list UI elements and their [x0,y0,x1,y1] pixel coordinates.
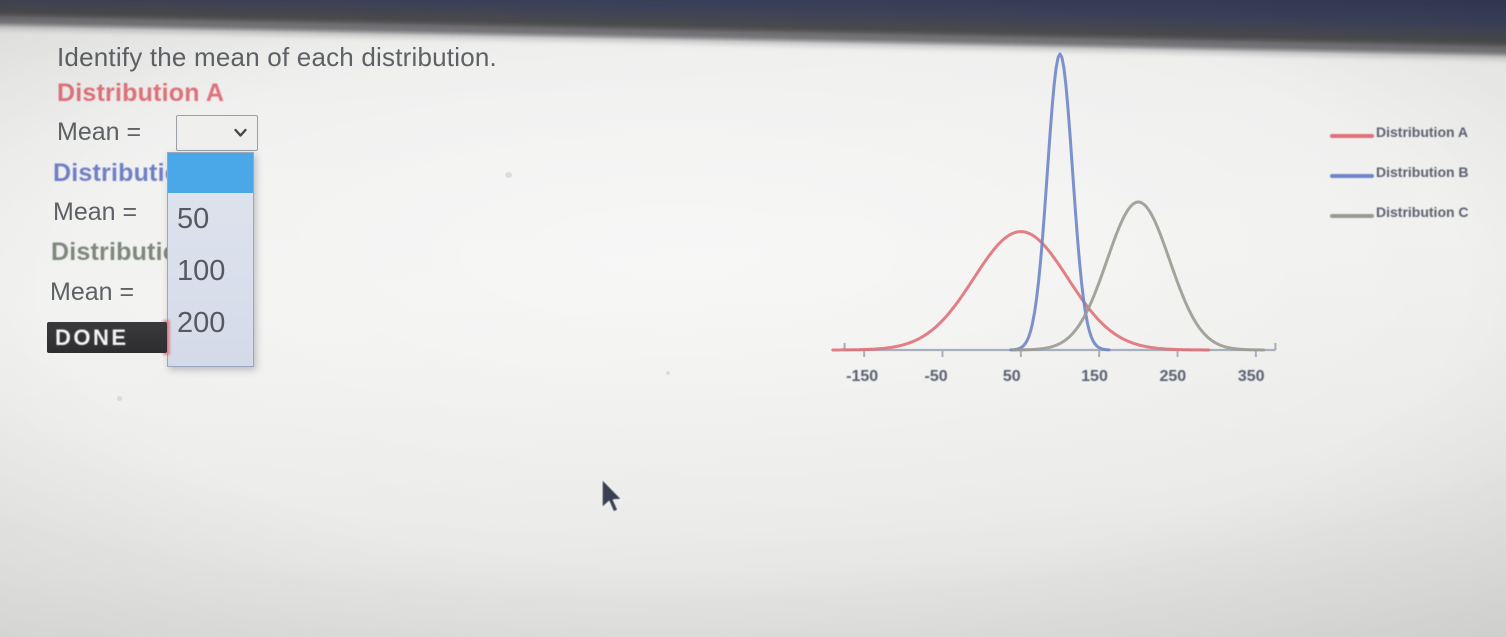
done-button[interactable]: DONE [47,322,167,353]
legend-swatch-c [1330,214,1374,218]
legend-label-b: Distribution B [1376,164,1469,180]
dropdown-option-200[interactable]: 200 [168,297,253,349]
mean-dropdown-list[interactable]: 50 100 200 [167,152,254,367]
distribution-a-mean-select[interactable] [176,115,258,151]
legend-swatch-b [1330,174,1374,178]
distribution-a-heading: Distribution A [57,79,224,108]
photo-speck [666,371,670,375]
chart-legend: Distribution A Distribution B Distributi… [1330,118,1502,238]
x-tick-label: 50 [1003,368,1021,386]
x-tick-label: 350 [1238,368,1265,386]
legend-label-c: Distribution C [1376,204,1469,220]
mouse-cursor [600,478,626,518]
chart-canvas [790,20,1330,400]
done-button-label: DONE [55,325,129,351]
x-tick-label: -150 [846,368,878,386]
photo-speck [117,396,122,401]
legend-swatch-a [1330,134,1374,138]
x-tick-label: -50 [925,368,948,386]
legend-item-distribution-a: Distribution A [1330,118,1502,158]
legend-item-distribution-c: Distribution C [1330,198,1502,238]
x-tick-label: 250 [1160,368,1187,386]
legend-label-a: Distribution A [1376,124,1468,140]
distribution-a-mean-label: Mean = [57,118,141,147]
legend-item-distribution-b: Distribution B [1330,158,1502,198]
chevron-down-icon [233,125,248,140]
curve-distribution-c [1013,202,1264,350]
distribution-chart: -150-5050150250350 [790,20,1330,400]
screenshot-root: Identify the mean of each distribution. … [0,0,1506,637]
curve-distribution-a [833,232,1209,350]
dropdown-option-100[interactable]: 100 [168,245,253,297]
question-prompt: Identify the mean of each distribution. [57,42,497,73]
curve-distribution-b [1011,54,1109,350]
question-panel: Identify the mean of each distribution. … [0,0,760,420]
distribution-b-mean-label: Mean = [53,198,137,227]
distribution-c-mean-label: Mean = [50,278,134,307]
x-tick-label: 150 [1081,368,1108,386]
dropdown-option-blank[interactable] [168,153,253,193]
dropdown-option-50[interactable]: 50 [168,193,253,245]
photo-speck [505,172,512,178]
